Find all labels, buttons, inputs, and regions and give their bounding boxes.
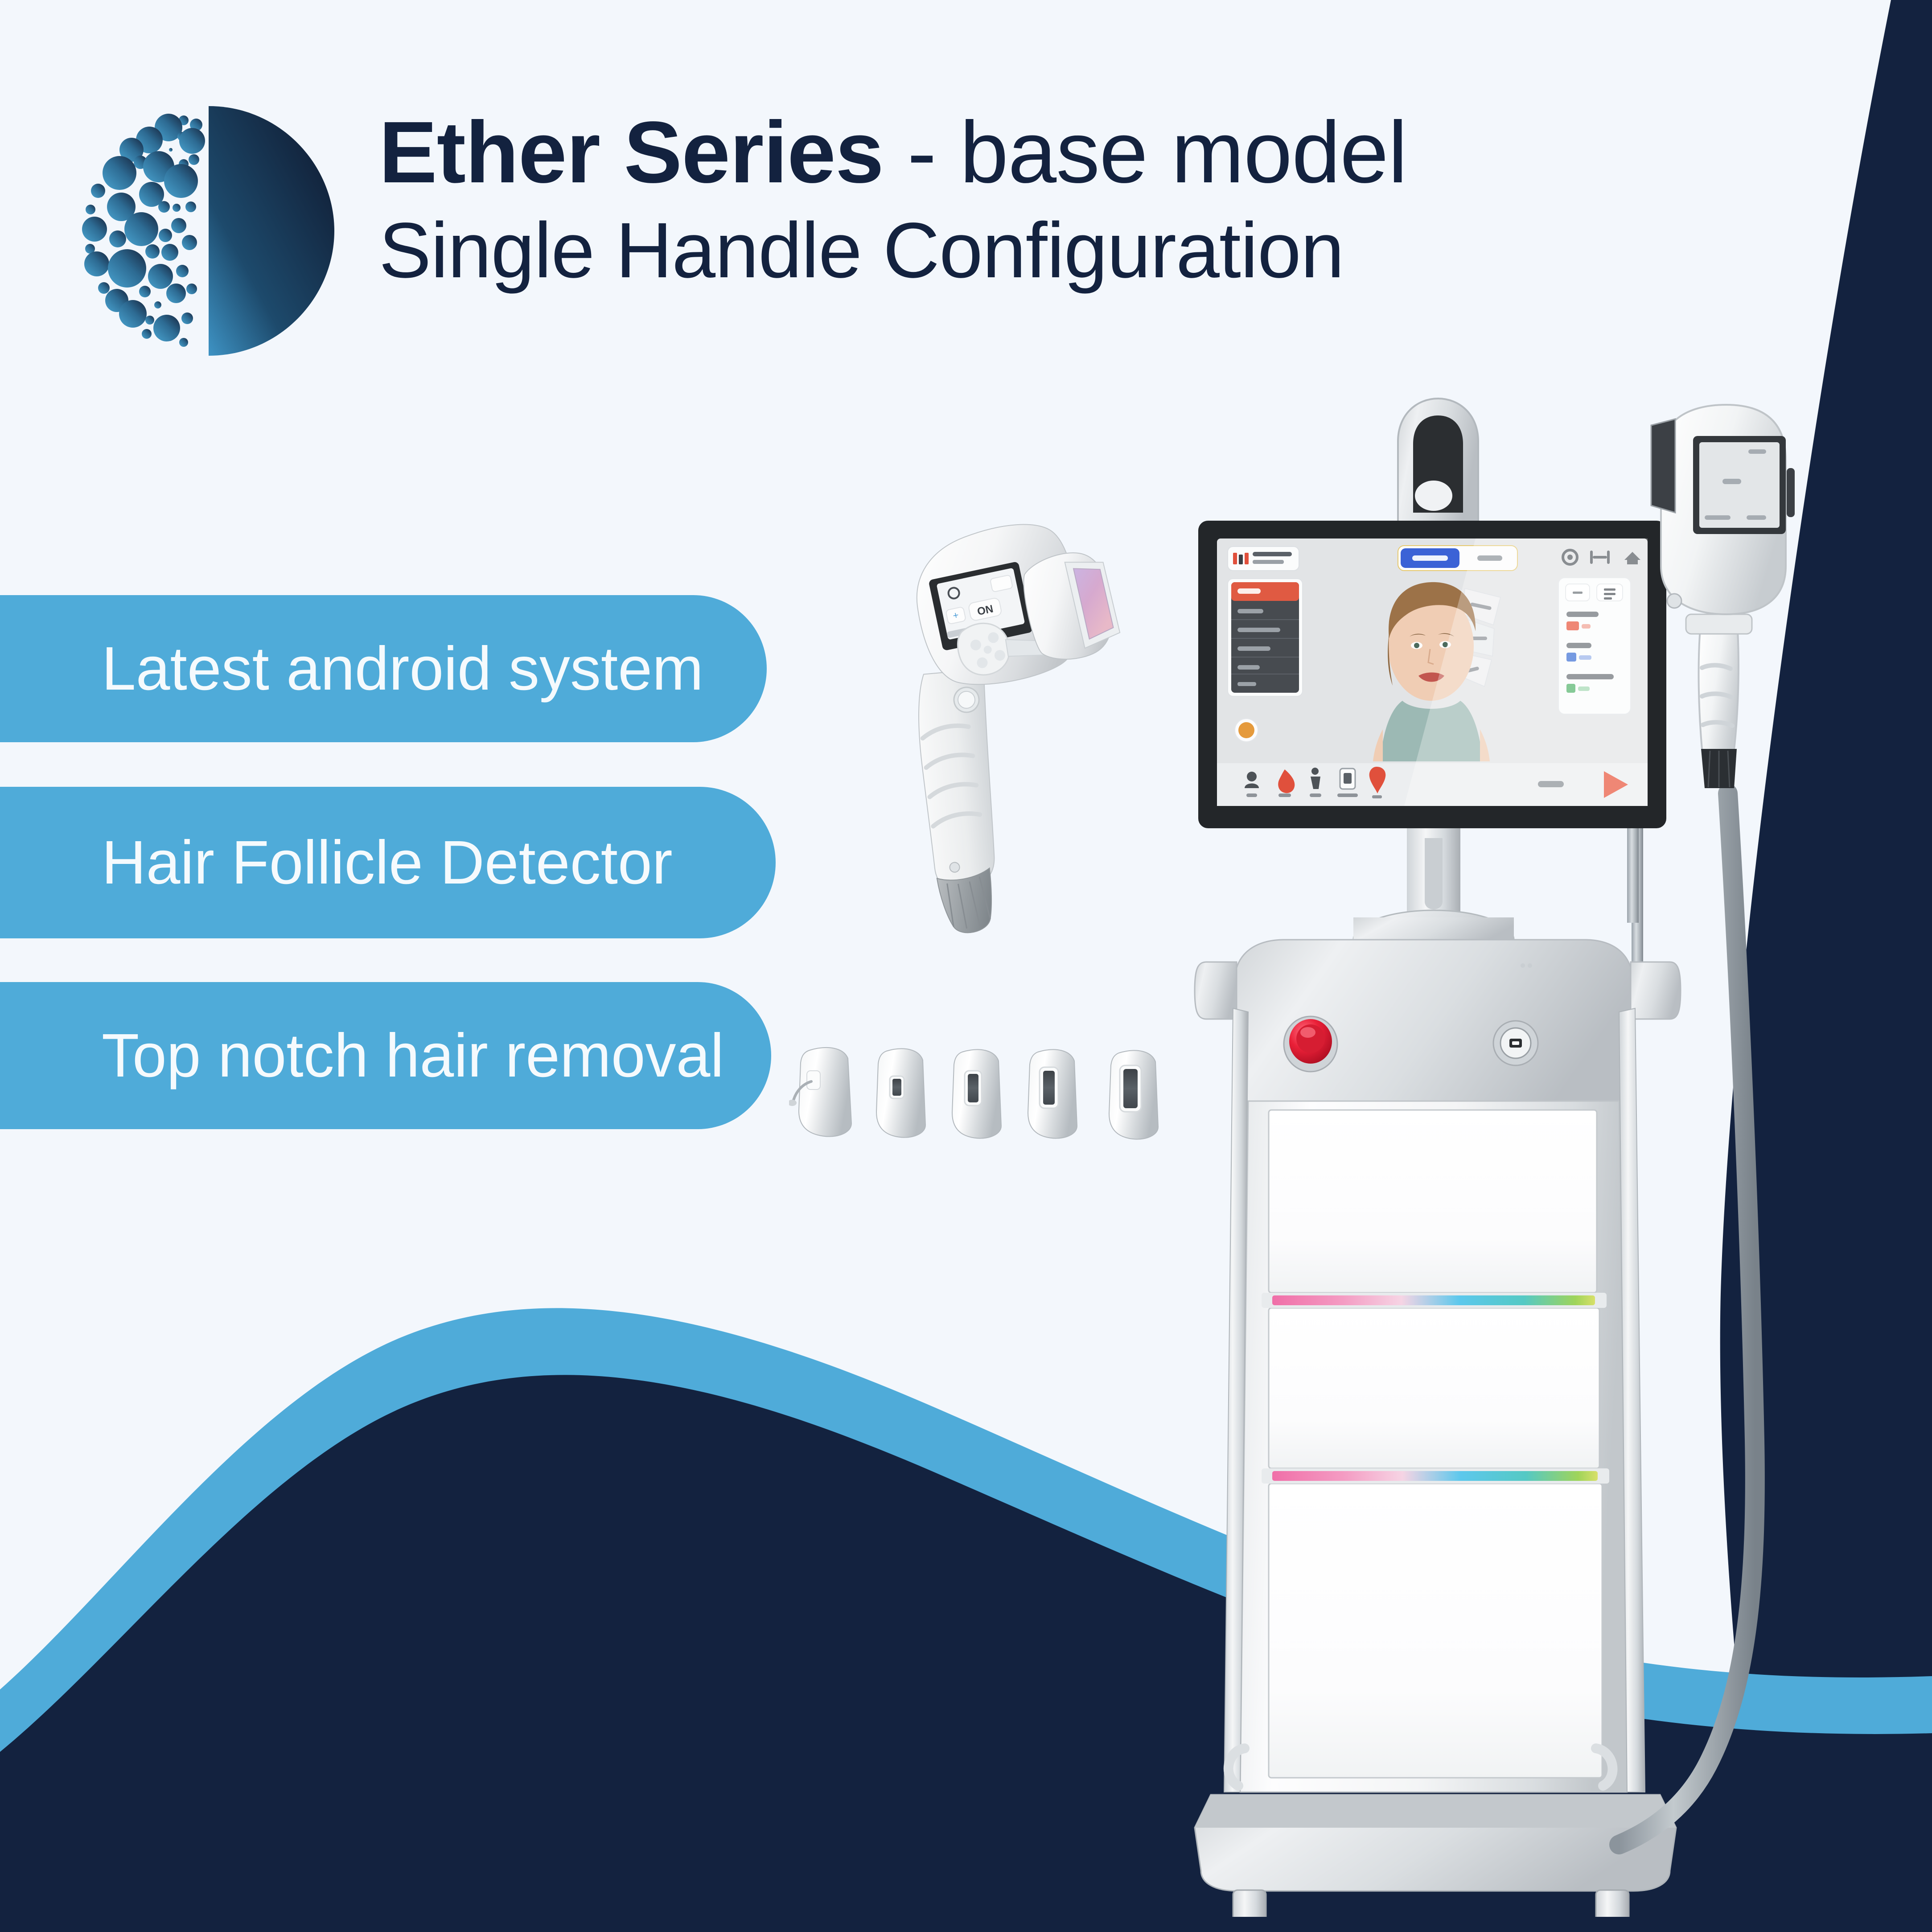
- feature-pill-3-label: Top notch hair removal: [102, 1020, 724, 1091]
- machine-left-nub: [1195, 962, 1237, 1019]
- logo-dot-cluster: [82, 114, 205, 347]
- machine-right-nub: [1631, 962, 1681, 1019]
- tip-5: [1109, 1050, 1158, 1139]
- machine-panel-top: [1269, 1110, 1597, 1293]
- feature-list: Latest android system Hair Follicle Dete…: [0, 595, 785, 1129]
- tip-4: [1028, 1049, 1077, 1138]
- title-strong: Ether Series: [379, 103, 884, 201]
- feature-pill-1[interactable]: Latest android system: [0, 595, 767, 742]
- handpiece-cradle: [1398, 399, 1478, 526]
- title-block: Ether Series - base model Single Handle …: [379, 85, 1407, 294]
- tip-1: [789, 1048, 851, 1137]
- page-title: Ether Series - base model: [379, 107, 1407, 198]
- tip-2: [876, 1048, 925, 1137]
- castor-wheel-left: [1228, 1890, 1272, 1917]
- brand-logo: [67, 87, 352, 373]
- product-imagery: + ON: [758, 379, 1932, 1932]
- castor-wheel-right: [1591, 1890, 1635, 1917]
- pole-handpiece-side-button: [1787, 468, 1795, 517]
- dotted-half-circle-logo-icon: [67, 87, 352, 373]
- led-strip-upper: [1262, 1293, 1607, 1308]
- screen-brand-chip: [1228, 547, 1299, 571]
- title-light: base model: [960, 103, 1407, 201]
- pole-handpiece-screen: [1699, 442, 1780, 528]
- monitor-stand-rod: [1627, 828, 1639, 923]
- key-switch[interactable]: [1493, 1021, 1538, 1065]
- emergency-stop-button[interactable]: [1284, 1016, 1337, 1072]
- pole-handpiece: [1651, 405, 1795, 788]
- logo-half-disc: [209, 106, 334, 356]
- feature-pill-2[interactable]: Hair Follicle Detector: [0, 787, 776, 938]
- pole-handpiece-emitter: [1651, 419, 1675, 513]
- pole-handpiece-trigger: [1667, 594, 1681, 608]
- machine-base: [1195, 1795, 1676, 1891]
- poster-canvas: Ether Series - base model Single Handle …: [0, 0, 1932, 1932]
- screen-sidebar[interactable]: [1228, 579, 1303, 696]
- title-separator: -: [884, 103, 960, 201]
- machine-base-shadow-top: [1195, 1795, 1676, 1828]
- feature-pill-3[interactable]: Top notch hair removal: [0, 982, 771, 1129]
- header: Ether Series - base model Single Handle …: [67, 85, 1407, 373]
- led-strip-lower: [1262, 1468, 1609, 1484]
- monitor: [1198, 521, 1666, 828]
- tip-3: [952, 1049, 1001, 1138]
- session-badge[interactable]: [1235, 719, 1258, 742]
- machine-panel-bottom: [1269, 1484, 1602, 1778]
- laser-treatment-machine-trolley: [1181, 379, 1877, 1917]
- pole-handpiece-collar: [1686, 614, 1752, 634]
- feature-pill-1-label: Latest android system: [102, 633, 703, 704]
- interchangeable-spot-size-tips: [789, 1043, 1208, 1177]
- laser-handpiece: + ON: [838, 513, 1159, 941]
- cradle-highlight: [1415, 481, 1452, 511]
- feature-pill-2-label: Hair Follicle Detector: [102, 827, 673, 898]
- machine-panel-mid: [1269, 1308, 1599, 1468]
- monitor-stand-slot: [1425, 838, 1443, 909]
- page-subtitle: Single Handle Configuration: [379, 208, 1407, 294]
